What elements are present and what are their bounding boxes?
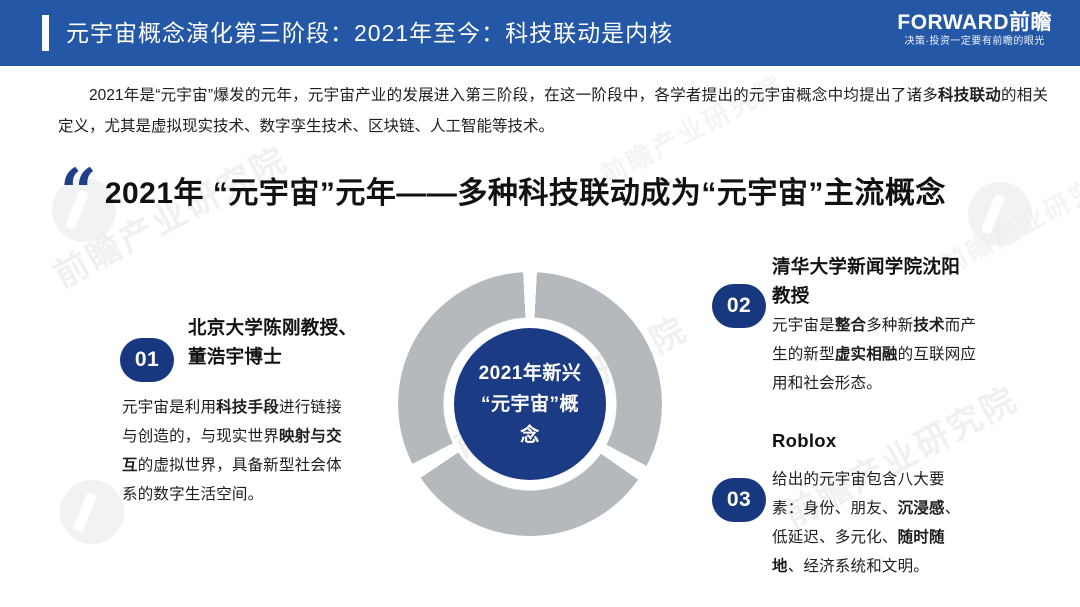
item-body-03: 给出的元宇宙包含八大要素：身份、朋友、沉浸感、低延迟、多元化、随时随地、经济系统… — [772, 465, 972, 581]
page-title: 元宇宙概念演化第三阶段：2021年至今：科技联动是内核 — [66, 16, 673, 50]
item-title-03: Roblox — [772, 426, 972, 455]
watermark-logo-icon — [968, 182, 1032, 246]
donut-core-label: 2021年新兴“元宇宙”概念 — [474, 358, 586, 451]
item-body-02-b2: 技术 — [913, 317, 944, 334]
section-heading-text: 2021年 “元宇宙”元年——多种科技联动成为“元宇宙”主流概念 — [105, 168, 946, 216]
item-body-02-b1: 整合 — [835, 317, 866, 334]
item-body-01-p1: 元宇宙是利用 — [122, 399, 216, 416]
item-body-01-p3: 的虚拟世界，具备新型社会体系的数字生活空间。 — [122, 457, 342, 503]
brand-logo-name: FORWARD前瞻 — [897, 10, 1052, 35]
item-body-01-b1: 科技手段 — [216, 399, 279, 416]
item-body-02: 元宇宙是整合多种新技术而产生的新型虚实相融的互联网应用和社会形态。 — [772, 311, 984, 398]
watermark-logo-icon — [60, 480, 124, 544]
item-badge-03: 03 — [712, 478, 766, 522]
intro-text-part1: 2021年是“元宇宙”爆发的元年，元宇宙产业的发展进入第三阶段，在这一阶段中，各… — [89, 87, 938, 104]
item-title-02: 清华大学新闻学院沈阳教授 — [772, 252, 972, 310]
item-badge-02: 02 — [712, 284, 766, 328]
item-body-03-p3: 、经济系统和文明。 — [788, 558, 929, 575]
item-body-03-b1: 沉浸感 — [898, 500, 945, 517]
brand-logo: FORWARD前瞻 决策·投资一定要有前瞻的眼光 — [897, 10, 1052, 49]
item-title-01: 北京大学陈刚教授、董浩宇博士 — [188, 313, 358, 371]
brand-logo-tagline: 决策·投资一定要有前瞻的眼光 — [897, 35, 1052, 49]
item-body-01: 元宇宙是利用科技手段进行链接与创造的，与现实世界映射与交互的虚拟世界，具备新型社… — [122, 393, 348, 509]
donut-core: 2021年新兴“元宇宙”概念 — [454, 328, 606, 480]
item-badge-01: 01 — [120, 338, 174, 382]
item-body-02-p2: 多种新 — [866, 317, 913, 334]
slide-page: 前瞻产业研究院 前瞻产业研究院 前瞻产业研究院 前瞻产业研究院 前瞻产业研究院 … — [0, 0, 1080, 607]
header-bar: 元宇宙概念演化第三阶段：2021年至今：科技联动是内核 FORWARD前瞻 决策… — [0, 0, 1080, 66]
item-body-02-b3: 虚实相融 — [835, 346, 898, 363]
header-accent-bar — [42, 15, 49, 51]
intro-paragraph: 2021年是“元宇宙”爆发的元年，元宇宙产业的发展进入第三阶段，在这一阶段中，各… — [58, 80, 1048, 142]
quote-mark-icon: “ — [60, 168, 97, 218]
item-body-02-p1: 元宇宙是 — [772, 317, 835, 334]
section-heading: “ 2021年 “元宇宙”元年——多种科技联动成为“元宇宙”主流概念 — [60, 168, 946, 218]
intro-highlight: 科技联动 — [938, 87, 1001, 104]
center-donut-diagram: 2021年新兴“元宇宙”概念 — [398, 272, 662, 536]
